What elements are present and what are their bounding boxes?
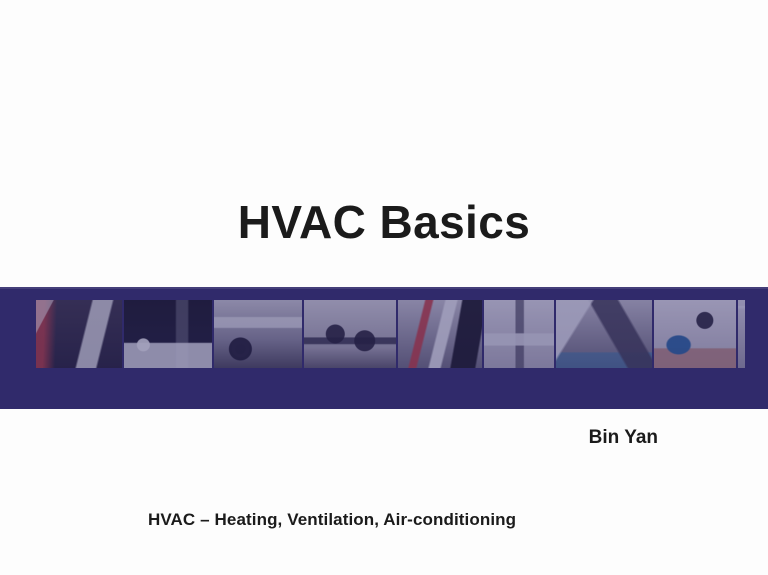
photo-panel-blue-pump: [654, 300, 736, 368]
photo-panel-piping-red-valve: [36, 300, 122, 368]
photo-panel-dark-equipment-room: [124, 300, 212, 368]
photo-panel-gauges-pipework: [304, 300, 396, 368]
photo-filmstrip: [36, 300, 745, 368]
banner-band: [0, 287, 768, 409]
photo-panel-handwheel-valve: [214, 300, 302, 368]
presentation-slide: HVAC Basics Bin Yan HVAC – Heating, Vent…: [0, 0, 768, 575]
page-title: HVAC Basics: [0, 196, 768, 249]
photo-panel-blue-cylinder-tank: [738, 300, 745, 368]
photo-panel-red-pipe-diagonal: [398, 300, 482, 368]
author-name: Bin Yan: [0, 427, 658, 449]
photo-panel-ductwork: [556, 300, 652, 368]
subtitle-caption: HVAC – Heating, Ventilation, Air-conditi…: [148, 510, 516, 530]
photo-panel-control-panel: [484, 300, 554, 368]
